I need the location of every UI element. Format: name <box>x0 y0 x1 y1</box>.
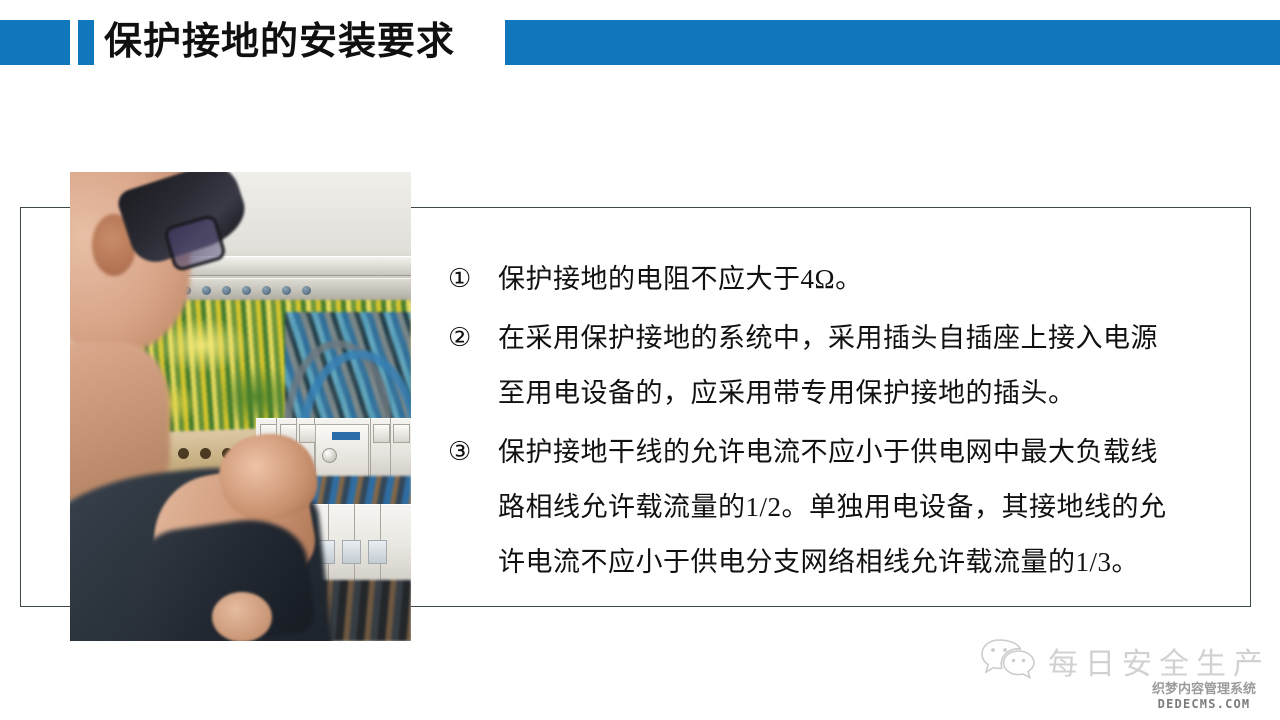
list-item: ② 在采用保护接地的系统中，采用插头自插座上接入电源 至用电设备的，应采用带专用… <box>448 311 1228 421</box>
photo-terminal-screw <box>262 286 271 295</box>
photo-breaker-divider <box>390 418 391 480</box>
dedecms-watermark-en: DEDECMS.COM <box>1152 697 1256 711</box>
photo-wood-hole <box>200 448 211 459</box>
list-item-marker: ① <box>448 252 498 307</box>
list-item-line: 至用电设备的，应采用带专用保护接地的插头。 <box>498 366 1228 421</box>
list-item-line: 保护接地干线的允许电流不应小于供电网中最大负载线 <box>498 425 1228 480</box>
electrician-panel-photo <box>70 172 411 641</box>
photo-person-second-hand <box>212 592 272 641</box>
photo-terminal-screw <box>202 286 211 295</box>
photo-wood-hole <box>178 448 189 459</box>
photo-rcd-label <box>332 432 360 440</box>
wechat-watermark: 每日安全生产 <box>980 636 1270 685</box>
photo-terminal-screw <box>222 286 231 295</box>
photo-breaker-lever <box>299 424 316 443</box>
photo-breaker-divider <box>370 418 371 480</box>
list-item-text: 保护接地的电阻不应大于4Ω。 <box>498 252 1228 307</box>
list-item-marker: ② <box>448 311 498 366</box>
list-item-line: 在采用保护接地的系统中，采用插头自插座上接入电源 <box>498 311 1228 366</box>
photo-breaker-lever <box>342 540 361 564</box>
dedecms-watermark-cn: 织梦内容管理系统 <box>1152 683 1256 697</box>
list-item-line: 保护接地的电阻不应大于4Ω。 <box>498 252 1228 307</box>
header-bar-right <box>505 20 1280 65</box>
wechat-account-name: 每日安全生产 <box>1048 639 1270 683</box>
list-item-line: 许电流不应小于供电分支网络相线允许载流量的1/3。 <box>498 535 1228 590</box>
list-item: ③ 保护接地干线的允许电流不应小于供电网中最大负载线 路相线允许载流量的1/2。… <box>448 425 1228 590</box>
photo-terminal-screw <box>302 286 311 295</box>
slide-header: 保护接地的安装要求 <box>0 0 1280 80</box>
wechat-icon <box>980 636 1036 685</box>
list-item: ① 保护接地的电阻不应大于4Ω。 <box>448 252 1228 307</box>
dedecms-watermark: 织梦内容管理系统 DEDECMS.COM <box>1152 683 1256 711</box>
photo-rcd-knob <box>322 448 337 463</box>
content-list: ① 保护接地的电阻不应大于4Ω。 ② 在采用保护接地的系统中，采用插头自插座上接… <box>448 252 1228 594</box>
photo-breaker-lever <box>368 540 387 564</box>
photo-breaker-lever <box>393 424 410 443</box>
photo-terminal-screw <box>282 286 291 295</box>
photo-breaker-lever <box>373 424 390 443</box>
header-bar-left <box>0 20 70 65</box>
photo-terminal-screw <box>242 286 251 295</box>
list-item-line: 路相线允许载流量的1/2。单独用电设备，其接地线的允 <box>498 480 1228 535</box>
page-title: 保护接地的安装要求 <box>104 12 455 70</box>
list-item-text: 保护接地干线的允许电流不应小于供电网中最大负载线 路相线允许载流量的1/2。单独… <box>498 425 1228 590</box>
list-item-text: 在采用保护接地的系统中，采用插头自插座上接入电源 至用电设备的，应采用带专用保护… <box>498 311 1228 421</box>
list-item-marker: ③ <box>448 425 498 480</box>
header-accent-bar <box>78 20 94 65</box>
